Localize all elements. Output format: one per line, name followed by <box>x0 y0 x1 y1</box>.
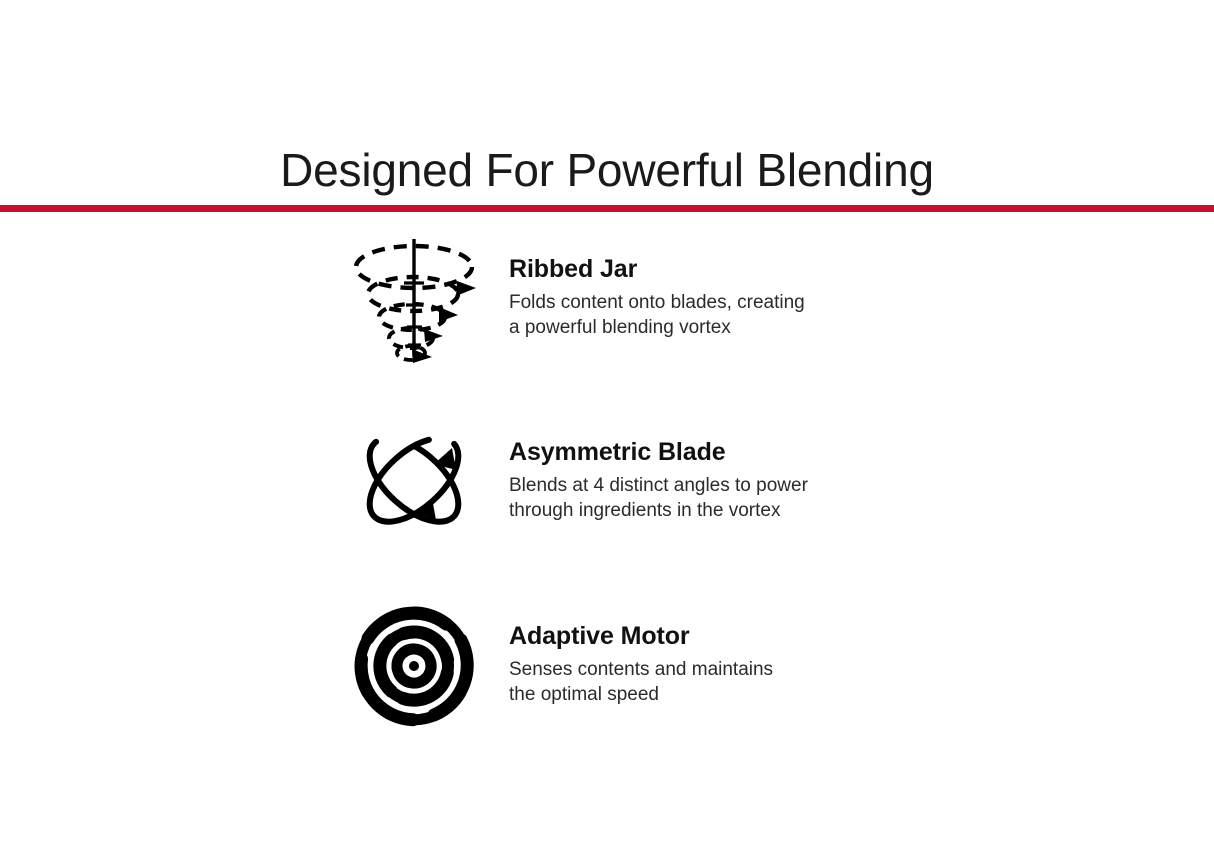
feature-description-line-1: Senses contents and maintains <box>509 657 900 682</box>
red-divider-rule <box>0 205 1214 212</box>
feature-text-block: Adaptive Motor Senses contents and maint… <box>488 602 900 707</box>
slide-root: Designed For Powerful Blending <box>0 0 1214 849</box>
page-title: Designed For Powerful Blending <box>0 144 1214 197</box>
feature-description: Blends at 4 distinct angles to power thr… <box>509 473 900 524</box>
vortex-cone-icon <box>340 235 488 377</box>
feature-item-ribbed-jar: Ribbed Jar Folds content onto blades, cr… <box>340 235 900 385</box>
feature-title: Asymmetric Blade <box>509 439 900 467</box>
feature-description-line-1: Blends at 4 distinct angles to power <box>509 473 900 498</box>
feature-description-line-1: Folds content onto blades, creating <box>509 290 900 315</box>
feature-text-block: Ribbed Jar Folds content onto blades, cr… <box>488 235 900 340</box>
feature-item-asymmetric-blade: Asymmetric Blade Blends at 4 distinct an… <box>340 418 900 568</box>
crossed-orbits-blade-icon <box>340 418 488 540</box>
feature-description-line-2: a powerful blending vortex <box>509 315 900 340</box>
feature-description: Senses contents and maintains the optima… <box>509 657 900 708</box>
feature-text-block: Asymmetric Blade Blends at 4 distinct an… <box>488 418 900 523</box>
feature-description-line-2: through ingredients in the vortex <box>509 498 900 523</box>
feature-title: Ribbed Jar <box>509 256 900 284</box>
feature-description-line-2: the optimal speed <box>509 682 900 707</box>
feature-title: Adaptive Motor <box>509 623 900 651</box>
feature-description: Folds content onto blades, creating a po… <box>509 290 900 341</box>
feature-item-adaptive-motor: Adaptive Motor Senses contents and maint… <box>340 602 900 752</box>
spiral-motor-icon <box>340 602 488 728</box>
